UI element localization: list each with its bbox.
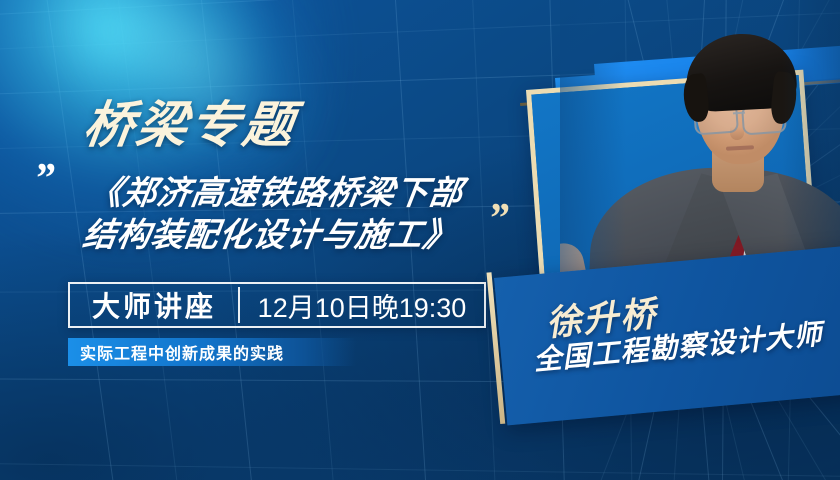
webinar-poster: ” 桥梁专题 《郑济高速铁路桥梁下部 结构装配化设计与施工》 ” 大师讲座 12… [0, 0, 840, 480]
photo-nose [730, 118, 744, 140]
quote-open-mark: ” [34, 158, 53, 200]
photo-hair-side-right [769, 71, 798, 125]
lecture-type-badge: 大师讲座 [70, 284, 238, 326]
lecture-datetime: 12月10日晚19:30 [240, 284, 484, 326]
lecture-book-title-line1: 《郑济高速铁路桥梁下部 [86, 172, 466, 214]
subtitle-strip: 实际工程中创新成果的实践 [68, 338, 356, 366]
page-title: 桥梁专题 [80, 100, 299, 150]
quote-close-mark: ” [488, 198, 507, 240]
lecture-book-title-line2: 结构装配化设计与施工》 [80, 214, 460, 256]
lecture-book-title: 《郑济高速铁路桥梁下部 结构装配化设计与施工》 [80, 172, 466, 256]
lecture-schedule-box: 大师讲座 12月10日晚19:30 [68, 282, 486, 328]
photo-hair-side-left [682, 73, 711, 123]
